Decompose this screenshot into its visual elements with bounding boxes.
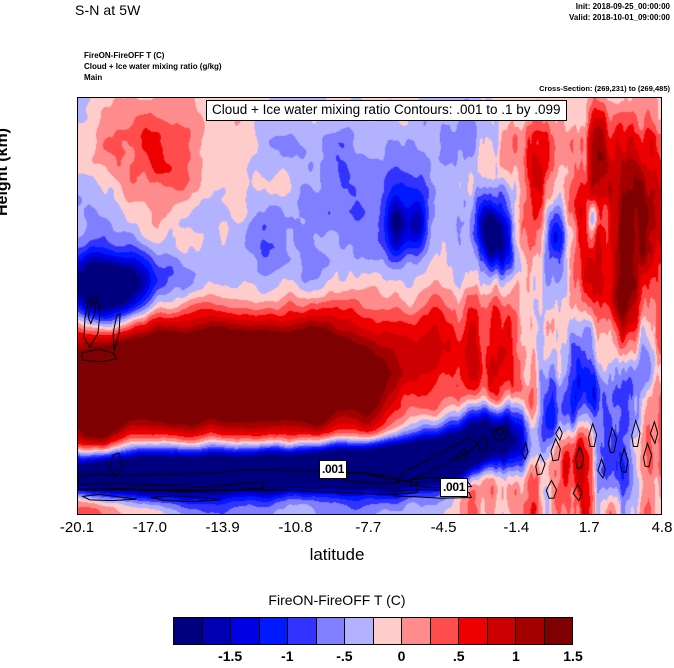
x-tick-minor	[407, 514, 408, 515]
y-tick	[77, 279, 78, 280]
colorbar-swatch-0	[174, 618, 203, 644]
colorbar-swatch-10	[459, 618, 488, 644]
contour-title-box: Cloud + Ice water mixing ratio Contours:…	[206, 100, 567, 121]
x-tick	[590, 514, 591, 515]
mixing-ratio-contour-lines	[78, 98, 661, 514]
y-tick	[77, 122, 78, 123]
y-tick-minor	[77, 299, 78, 300]
contour-path	[492, 425, 507, 441]
y-tick-minor	[77, 378, 78, 379]
y-tick-minor	[77, 141, 78, 142]
valid-time-label: Valid: 2018-10-01_09:00:00	[569, 13, 670, 24]
contour-path	[83, 494, 137, 500]
colorbar-tick-label: 0	[372, 648, 432, 664]
contour-path	[89, 300, 96, 323]
colorbar-swatch-3	[260, 618, 289, 644]
colorbar-tick-label: .5	[429, 648, 489, 664]
colorbar-tick-label: 1	[486, 648, 546, 664]
variable-info-block: FireON-FireOFF T (C) Cloud + Ice water m…	[84, 50, 222, 83]
y-tick	[77, 319, 78, 320]
colorbar-swatch-12	[516, 618, 545, 644]
y-tick-minor	[77, 260, 78, 261]
variable-line-3: Main	[84, 72, 222, 83]
x-tick	[517, 514, 518, 515]
colorbar-swatch-5	[317, 618, 346, 644]
colorbar-swatch-4	[288, 618, 317, 644]
colorbar-tick-label: -.5	[314, 648, 374, 664]
contour-path	[78, 482, 263, 491]
x-tick-minor	[187, 514, 188, 515]
x-tick	[78, 514, 79, 515]
time-stamp-block: Init: 2018-09-25_00:00:00 Valid: 2018-10…	[569, 2, 670, 23]
x-tick	[445, 514, 446, 515]
colorbar-swatch-2	[231, 618, 260, 644]
variable-line-1: FireON-FireOFF T (C)	[84, 50, 222, 61]
contour-path	[643, 443, 651, 467]
y-tick-minor	[77, 457, 78, 458]
contour-path	[556, 427, 563, 440]
colorbar-swatch-1	[203, 618, 232, 644]
y-tick	[77, 161, 78, 162]
colorbar-tick-label: 1.5	[543, 648, 603, 664]
plot-page: S-N at 5W Init: 2018-09-25_00:00:00 Vali…	[0, 0, 674, 668]
init-time-label: Init: 2018-09-25_00:00:00	[569, 2, 670, 13]
contour-path	[151, 496, 221, 501]
x-tick-label: 4.8	[617, 519, 674, 536]
contour-path	[522, 443, 528, 460]
x-tick-minor	[481, 514, 482, 515]
colorbar-swatch-11	[488, 618, 517, 644]
contour-path	[536, 454, 545, 474]
contour-path	[551, 439, 560, 461]
colorbar-title: FireON-FireOFF T (C)	[0, 592, 674, 608]
y-tick-minor	[77, 496, 78, 497]
plot-area: Cloud + Ice water mixing ratio Contours:…	[77, 97, 662, 515]
x-tick-minor	[627, 514, 628, 515]
contour-path	[575, 447, 583, 469]
contour-path	[546, 480, 556, 498]
x-tick-minor	[554, 514, 555, 515]
contour-path	[477, 437, 487, 450]
variable-line-2: Cloud + Ice water mixing ratio (g/kg)	[84, 61, 222, 72]
page-title: S-N at 5W	[75, 2, 140, 18]
contour-path	[632, 421, 640, 447]
x-axis-title: latitude	[0, 545, 674, 565]
contour-path	[620, 449, 628, 473]
y-tick	[77, 477, 78, 478]
x-tick-minor	[114, 514, 115, 515]
y-tick	[77, 201, 78, 202]
y-tick-minor	[77, 417, 78, 418]
contour-path	[573, 484, 582, 501]
x-tick	[369, 514, 370, 515]
colorbar	[173, 617, 573, 645]
contour-path	[598, 459, 605, 478]
colorbar-swatch-9	[431, 618, 460, 644]
contour-path	[81, 349, 116, 362]
contour-path	[588, 424, 596, 447]
contour-path	[608, 428, 616, 453]
colorbar-swatch-13	[545, 618, 573, 644]
contour-path	[496, 428, 504, 436]
y-tick-minor	[77, 181, 78, 182]
contour-path	[650, 422, 657, 444]
x-tick-minor	[260, 514, 261, 515]
colorbar-tick-label: -1.5	[200, 648, 260, 664]
contour-label-2: .001	[440, 478, 468, 497]
contour-label-1: .001	[319, 460, 347, 479]
x-tick	[224, 514, 225, 515]
cross-section-label: Cross-Section: (269,231) to (269,485)	[539, 84, 670, 93]
colorbar-swatch-6	[345, 618, 374, 644]
y-axis-title: Height (km)	[0, 128, 12, 216]
y-tick	[77, 240, 78, 241]
x-tick	[151, 514, 152, 515]
colorbar-swatch-8	[402, 618, 431, 644]
y-tick-minor	[77, 339, 78, 340]
y-tick	[77, 398, 78, 399]
colorbar-swatch-7	[374, 618, 403, 644]
x-tick	[296, 514, 297, 515]
y-tick	[77, 358, 78, 359]
contour-path	[399, 439, 479, 481]
y-tick-minor	[77, 220, 78, 221]
colorbar-tick-label: -1	[257, 648, 317, 664]
contour-path	[110, 453, 123, 476]
contour-path	[457, 449, 468, 460]
x-tick-minor	[333, 514, 334, 515]
contour-path	[113, 314, 120, 351]
y-tick	[77, 437, 78, 438]
